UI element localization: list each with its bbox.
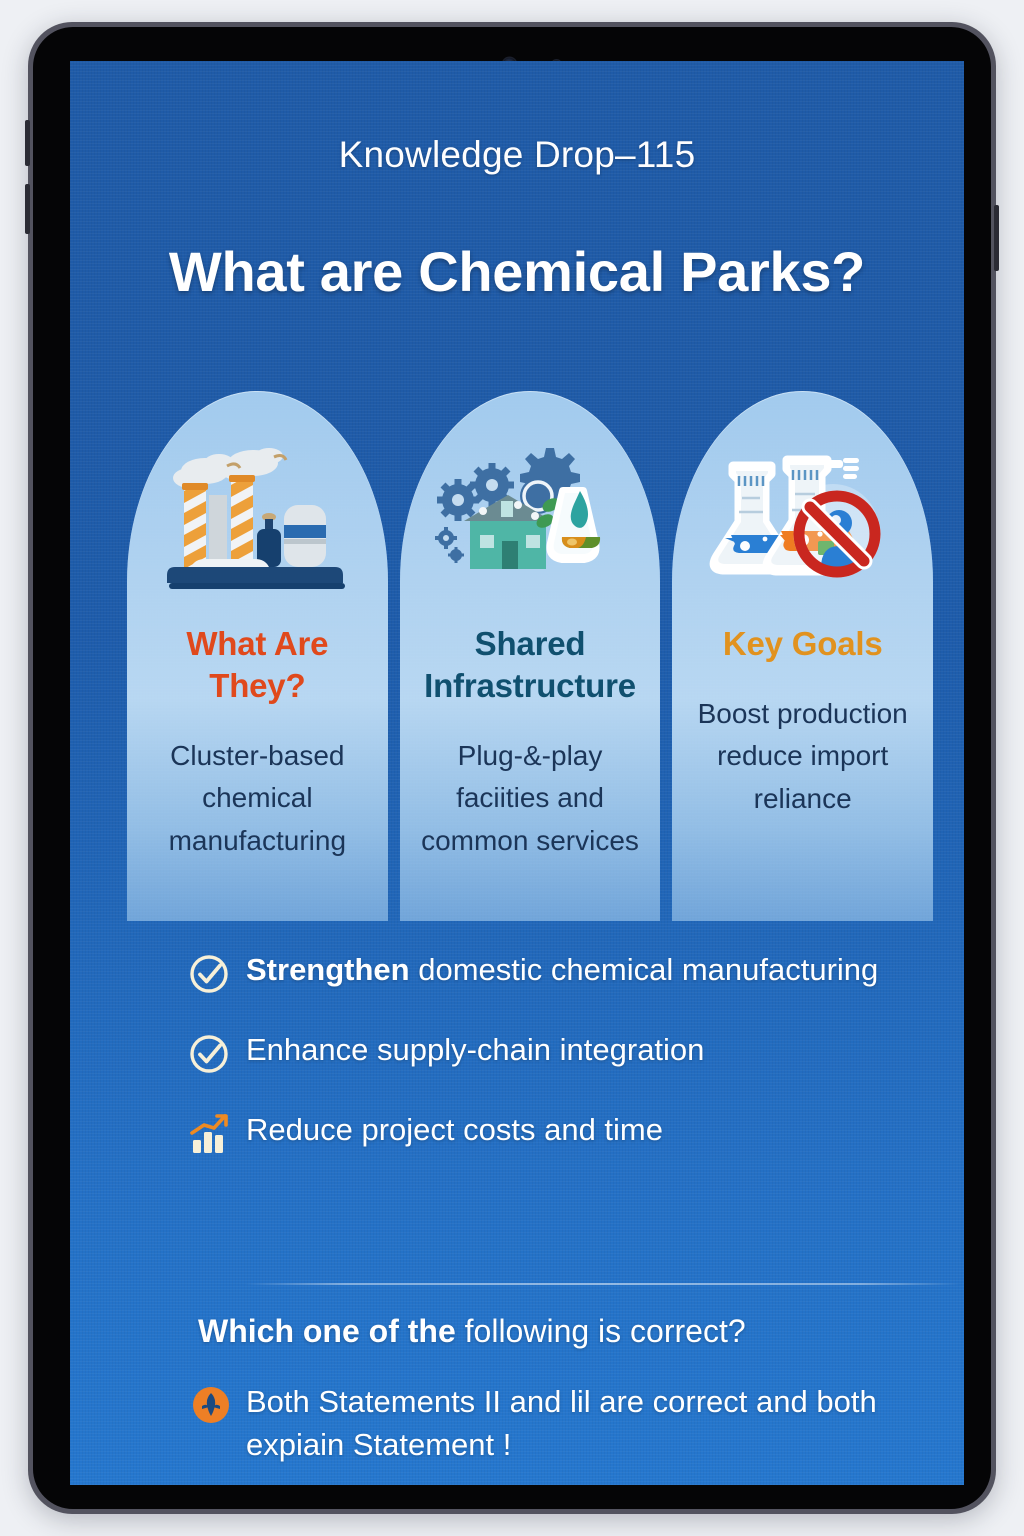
infographic-slide: Knowledge Drop–115 What are Chemical Par… xyxy=(70,61,964,1485)
volume-down-button[interactable] xyxy=(25,184,30,234)
card-heading: What Are They? xyxy=(135,623,380,707)
factory-smokestacks-icon xyxy=(157,423,357,603)
page-title: What are Chemical Parks? xyxy=(70,239,964,304)
tablet-screen: Knowledge Drop–115 What are Chemical Par… xyxy=(70,61,964,1485)
card-heading: Key Goals xyxy=(723,623,883,665)
check-circle-icon xyxy=(188,953,230,995)
list-item-bold: Strengthen xyxy=(246,952,410,987)
card-heading: Shared Infrastructure xyxy=(408,623,653,707)
gears-factory-flask-icon xyxy=(430,423,630,603)
key-points-list: Strengthen domestic chemical manufacturi… xyxy=(188,949,888,1189)
list-item: Enhance supply-chain integration xyxy=(188,1029,888,1075)
list-item-rest: Enhance supply-chain integration xyxy=(246,1032,704,1067)
concept-card-shared-infrastructure[interactable]: Shared Infrastructure Plug-&-play faciit… xyxy=(394,391,667,921)
tablet-bezel: Knowledge Drop–115 What are Chemical Par… xyxy=(33,27,991,1509)
concept-card-key-goals[interactable]: Key Goals Boost production reduce import… xyxy=(666,391,939,921)
list-item-label: Enhance supply-chain integration xyxy=(246,1029,704,1071)
question-bold: Which one of the xyxy=(198,1313,456,1349)
concept-card-what-are-they[interactable]: What Are They? Cluster-based chemical ma… xyxy=(121,391,394,921)
list-item-label: Strengthen domestic chemical manufacturi… xyxy=(246,949,878,991)
tablet-device-frame: Knowledge Drop–115 What are Chemical Par… xyxy=(28,22,996,1514)
flasks-no-entry-icon xyxy=(703,423,903,603)
question-prompt: Which one of the following is correct? xyxy=(198,1313,938,1350)
section-divider xyxy=(245,1283,960,1285)
power-button[interactable] xyxy=(994,205,999,271)
concept-cards-row: What Are They? Cluster-based chemical ma… xyxy=(121,391,939,921)
kicker-label: Knowledge Drop–115 xyxy=(70,134,964,176)
card-body: Cluster-based chemical manufacturing xyxy=(135,735,380,863)
answer-option[interactable]: Both Statements II and lil are correct a… xyxy=(192,1381,964,1467)
list-item: Strengthen domestic chemical manufacturi… xyxy=(188,949,888,995)
list-item-rest: domestic chemical manufacturing xyxy=(410,952,879,987)
bar-chart-up-icon xyxy=(188,1113,230,1155)
check-circle-icon xyxy=(188,1033,230,1075)
card-body: Plug-&-play faciities and common service… xyxy=(408,735,653,863)
exclamation-circle-icon xyxy=(192,1386,230,1424)
list-item-rest: Reduce project costs and time xyxy=(246,1112,663,1147)
list-item: Reduce project costs and time xyxy=(188,1109,888,1155)
list-item-label: Reduce project costs and time xyxy=(246,1109,663,1151)
volume-up-button[interactable] xyxy=(25,120,30,166)
answer-option-label: Both Statements II and lil are correct a… xyxy=(246,1381,964,1467)
card-body: Boost production reduce import reliance xyxy=(680,693,925,821)
question-rest: following is correct? xyxy=(456,1313,746,1349)
